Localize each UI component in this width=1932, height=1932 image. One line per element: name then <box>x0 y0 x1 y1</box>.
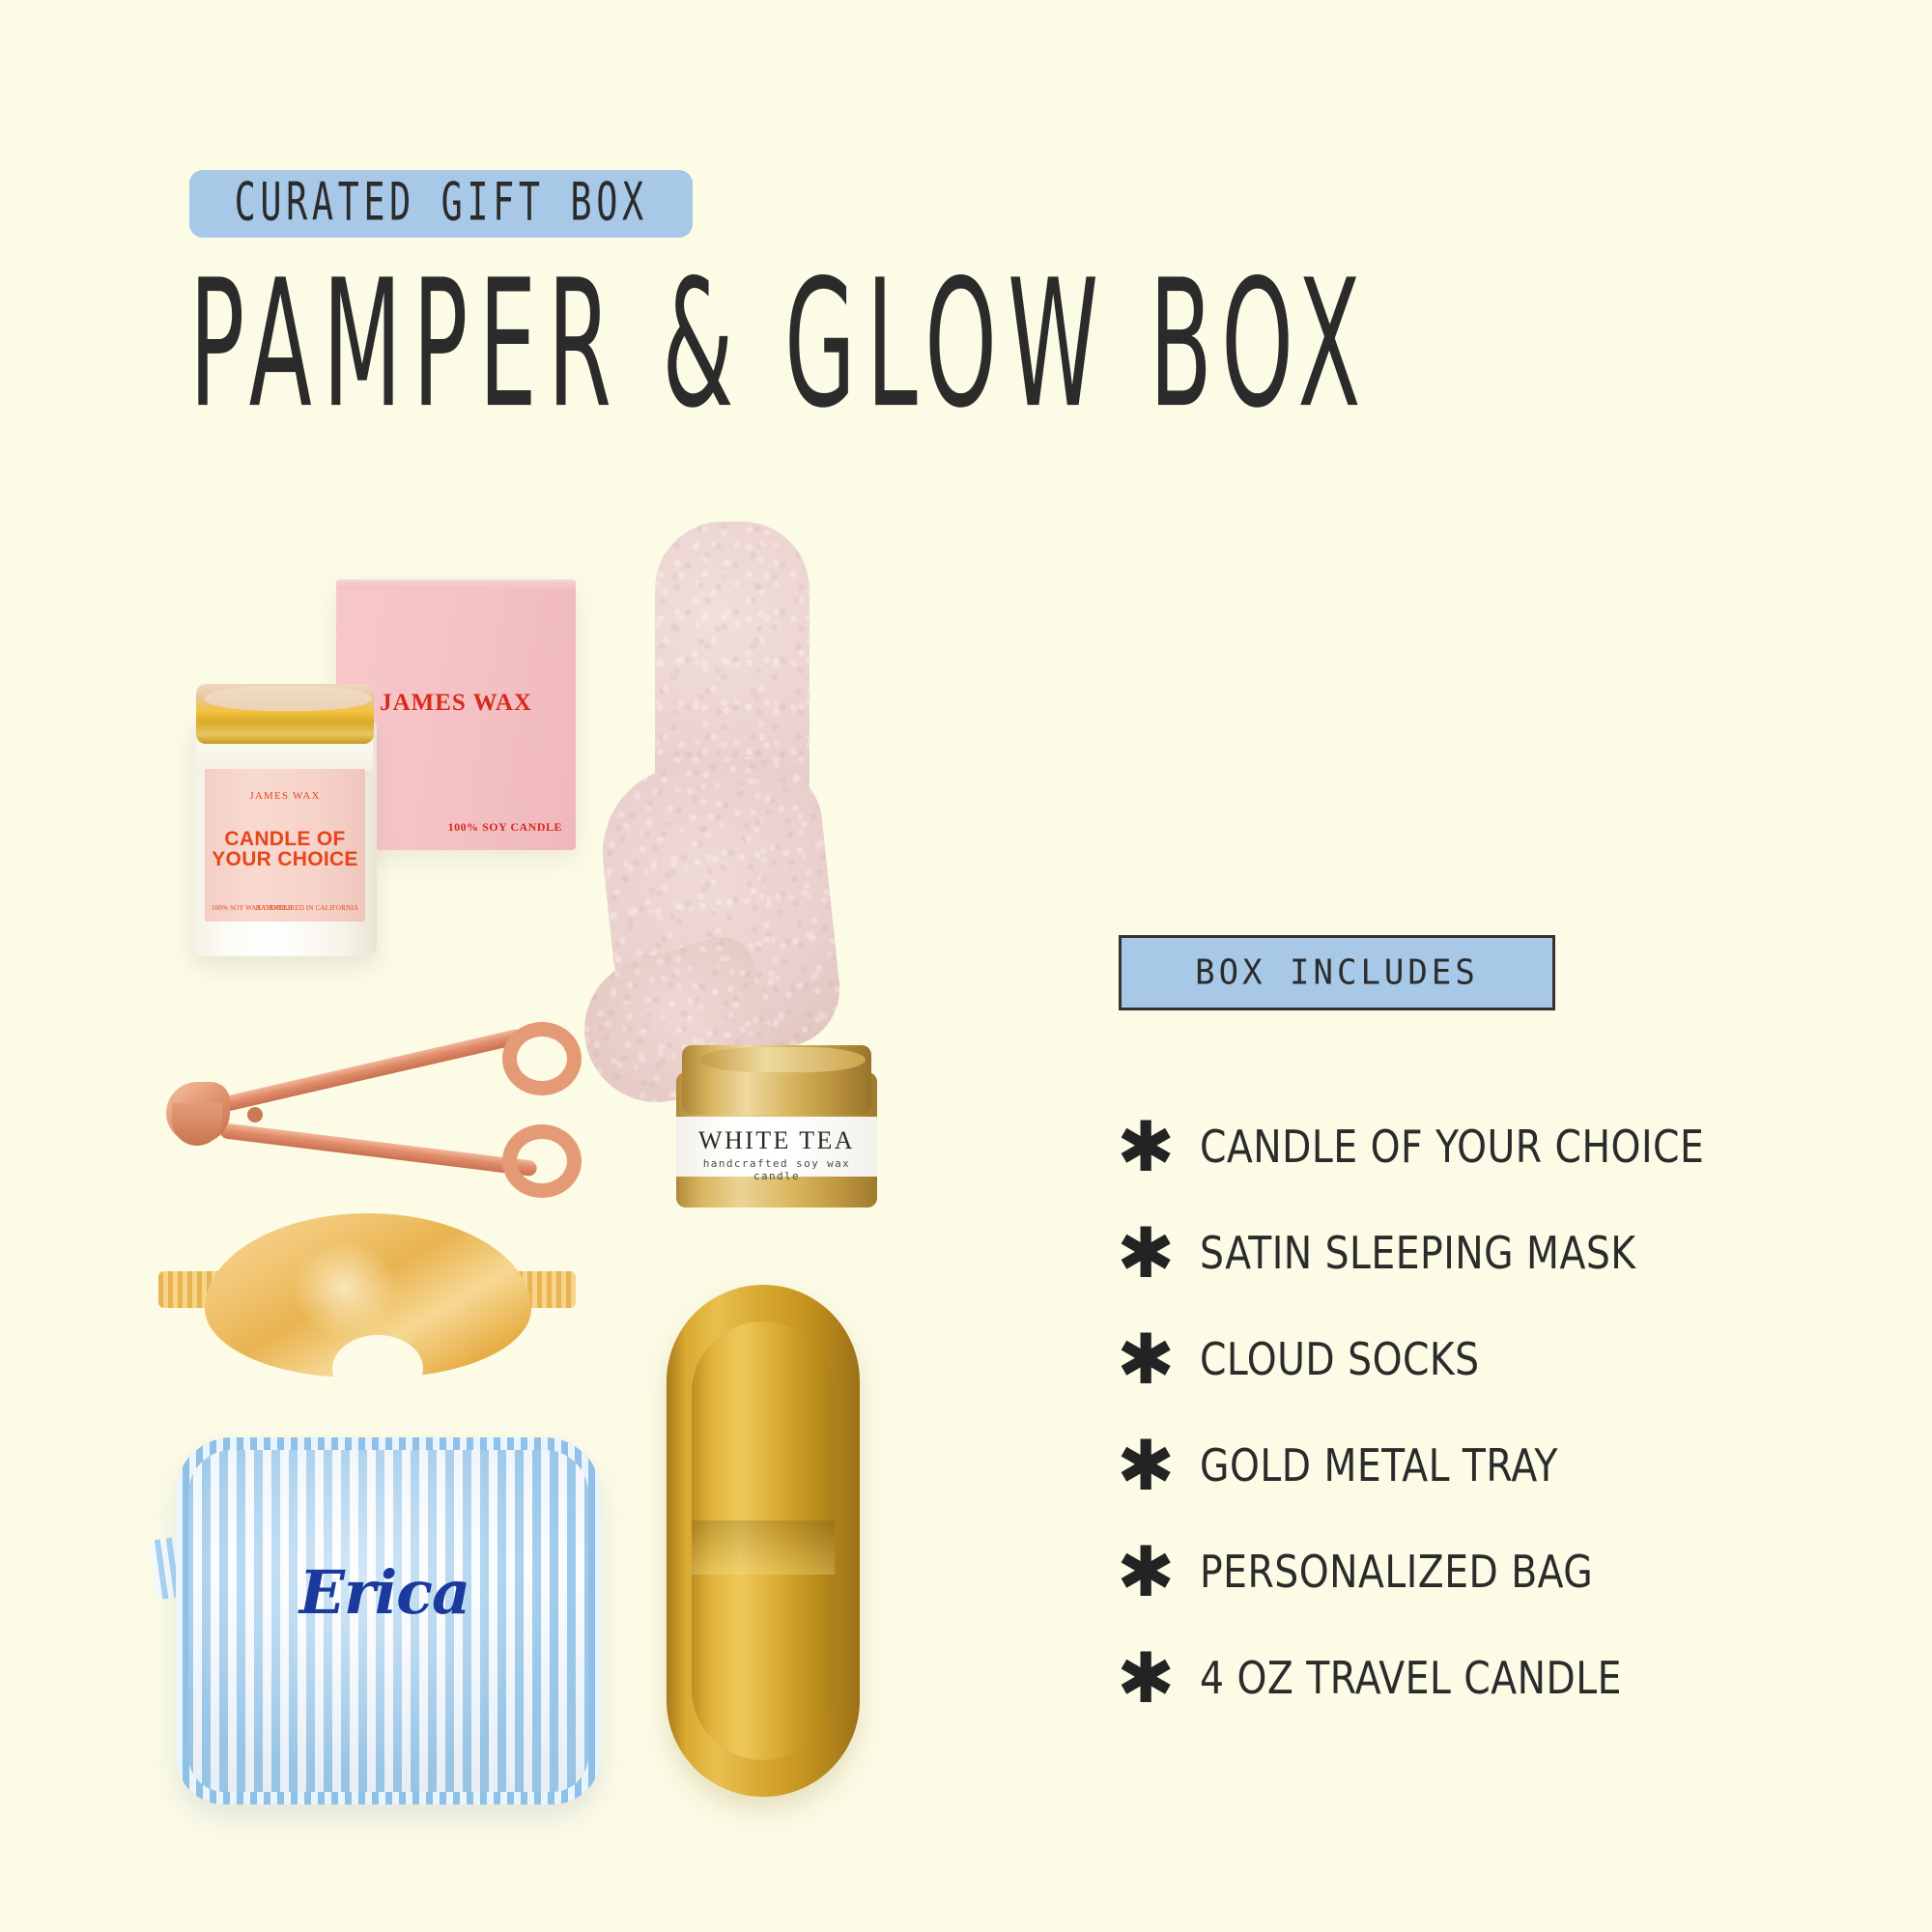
asterisk-icon: ✱ <box>1111 1112 1200 1181</box>
list-item-label: 4 OZ TRAVEL CANDLE <box>1200 1656 1622 1700</box>
page-title: PAMPER & GLOW BOX <box>189 257 1372 433</box>
list-item: ✱ SATIN SLEEPING MASK <box>1111 1200 1845 1306</box>
jar-label-footnote-right: HANDPOURED IN CALIFORNIA <box>256 904 358 912</box>
asterisk-icon: ✱ <box>1111 1431 1200 1500</box>
asterisk-icon: ✱ <box>1111 1537 1200 1606</box>
list-item: ✱ CLOUD SOCKS <box>1111 1306 1845 1412</box>
sock-foot <box>594 753 845 1064</box>
badge-label: CURATED GIFT BOX <box>235 177 648 229</box>
list-item-label: GOLD METAL TRAY <box>1200 1443 1558 1488</box>
list-item: ✱ 4 OZ TRAVEL CANDLE <box>1111 1625 1845 1731</box>
trimmer-arm-lower <box>219 1122 537 1177</box>
travel-candle-tin: WHITE TEA handcrafted soy wax candle <box>676 1045 877 1207</box>
jar-label-brand: JAMES WAX <box>205 790 365 802</box>
list-item-label: CANDLE OF YOUR CHOICE <box>1200 1124 1704 1169</box>
mask-sheen <box>292 1240 398 1337</box>
bag-monogram: Erica <box>153 1557 616 1628</box>
list-item-label: PERSONALIZED BAG <box>1200 1549 1593 1594</box>
tin-lid <box>682 1045 871 1115</box>
jar-label-title-line1: CANDLE OF <box>224 828 345 850</box>
satin-sleeping-mask <box>145 1209 589 1403</box>
jar-label-title: CANDLE OF YOUR CHOICE <box>205 829 365 869</box>
mask-body <box>205 1213 531 1378</box>
trimmer-pivot-screw <box>247 1107 263 1122</box>
candle-jar: JAMES WAX CANDLE OF YOUR CHOICE 100% SOY… <box>193 676 377 956</box>
asterisk-icon: ✱ <box>1111 1643 1200 1713</box>
carton-lid-edge <box>336 580 576 589</box>
list-item: ✱ CANDLE OF YOUR CHOICE <box>1111 1094 1845 1200</box>
trimmer-handle-ring-lower <box>502 1124 582 1198</box>
asterisk-icon: ✱ <box>1111 1324 1200 1394</box>
jar-label: JAMES WAX CANDLE OF YOUR CHOICE 100% SOY… <box>205 769 365 922</box>
gold-metal-tray <box>667 1285 860 1797</box>
list-item: ✱ GOLD METAL TRAY <box>1111 1412 1845 1519</box>
trimmer-handle-ring-upper <box>502 1022 582 1095</box>
jar-label-title-line2: YOUR CHOICE <box>212 848 357 870</box>
cloud-socks <box>541 522 850 1063</box>
tray-highlight <box>692 1520 835 1575</box>
box-includes-heading: BOX INCLUDES <box>1119 935 1555 1010</box>
personalized-bag: Erica <box>153 1432 616 1818</box>
trimmer-arm-upper <box>211 1028 525 1115</box>
trimmer-blade-bowl <box>172 1103 222 1146</box>
jar-lid-top <box>204 686 372 711</box>
wick-trimmer <box>145 1010 589 1213</box>
mask-nose-notch <box>332 1335 423 1403</box>
list-item-label: CLOUD SOCKS <box>1200 1337 1480 1381</box>
tin-descriptor: handcrafted soy wax candle <box>676 1157 877 1182</box>
tin-lid-top <box>699 1047 866 1072</box>
includes-list: ✱ CANDLE OF YOUR CHOICE ✱ SATIN SLEEPING… <box>1111 1094 1845 1731</box>
jar-gold-lid <box>196 684 374 744</box>
curated-gift-box-badge: CURATED GIFT BOX <box>189 170 693 238</box>
asterisk-icon: ✱ <box>1111 1218 1200 1288</box>
list-item-label: SATIN SLEEPING MASK <box>1200 1231 1636 1275</box>
poster-canvas: CURATED GIFT BOX PAMPER & GLOW BOX JAMES… <box>0 0 1932 1932</box>
box-includes-label: BOX INCLUDES <box>1195 955 1479 990</box>
list-item: ✱ PERSONALIZED BAG <box>1111 1519 1845 1625</box>
tin-scent-name: WHITE TEA <box>676 1126 877 1155</box>
